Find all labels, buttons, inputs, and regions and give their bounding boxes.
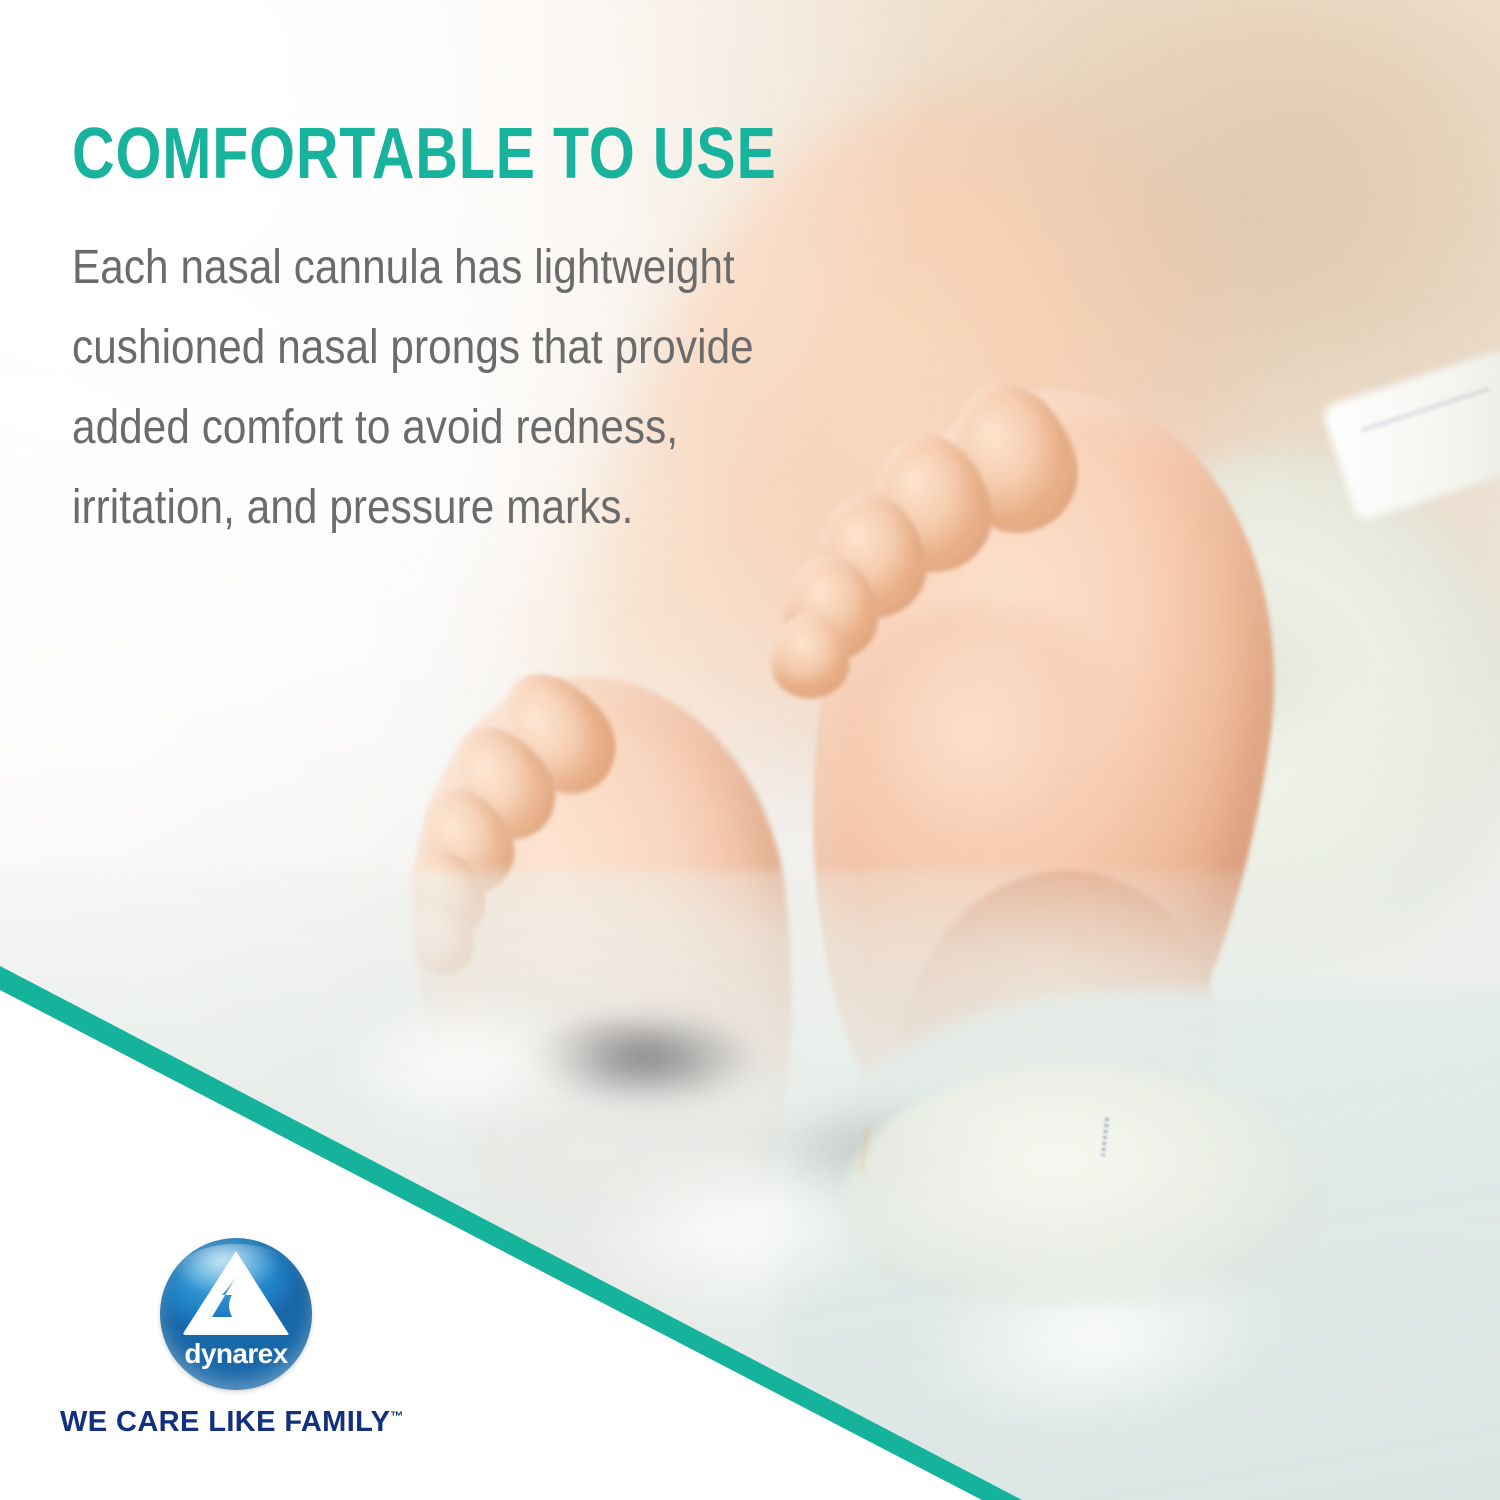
brand-logo: dynarex WE CARE LIKE FAMILY™ (60, 1238, 410, 1439)
brand-tagline: WE CARE LIKE FAMILY™ (60, 1406, 410, 1439)
dynarex-delta-triangle-icon (182, 1251, 290, 1335)
body-copy: Each nasal cannula has lightweight cushi… (72, 228, 914, 548)
brand-tagline-text: WE CARE LIKE FAMILY (60, 1406, 390, 1438)
promo-image-canvas: COMFORTABLE TO USE Each nasal cannula ha… (0, 0, 1500, 1500)
logo-sphere-wrapper: dynarex (160, 1238, 312, 1390)
body-copy-line: cushioned nasal prongs that provide (72, 308, 914, 388)
trademark-symbol: ™ (390, 1408, 403, 1423)
marketing-copy-block: COMFORTABLE TO USE Each nasal cannula ha… (72, 118, 992, 548)
logo-blue-sphere: dynarex (160, 1238, 312, 1390)
body-copy-line: irritation, and pressure marks. (72, 468, 914, 548)
page-title: COMFORTABLE TO USE (72, 118, 826, 190)
body-copy-line: Each nasal cannula has lightweight (72, 228, 914, 308)
body-copy-line: added comfort to avoid redness, (72, 388, 914, 468)
blanket-fold (270, 960, 660, 1170)
logo-wordmark: dynarex (160, 1338, 312, 1370)
